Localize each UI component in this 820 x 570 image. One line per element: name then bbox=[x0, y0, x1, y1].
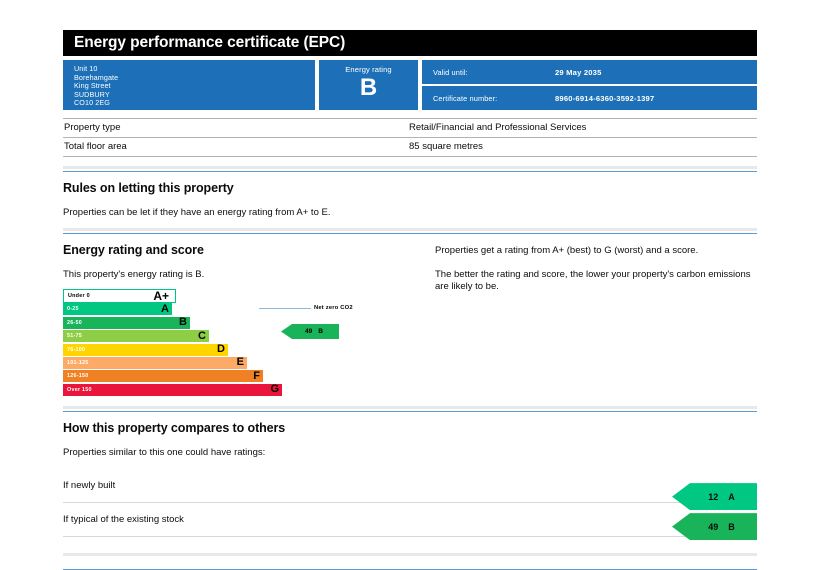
rating-band-e: 101-125 E bbox=[63, 357, 435, 369]
compare-rows: If newly built 12 A If typical of the ex… bbox=[63, 469, 757, 537]
floor-area-value: 85 square metres bbox=[409, 141, 757, 152]
compare-row-existing-stock: If typical of the existing stock 49 B bbox=[63, 503, 757, 537]
page-title: Energy performance certificate (EPC) bbox=[74, 35, 345, 51]
section-divider-grey-3 bbox=[63, 406, 757, 409]
rating-band-letter: B bbox=[179, 317, 187, 328]
letting-rules-text: Properties can be let if they have an en… bbox=[63, 206, 757, 219]
rating-explainer-2: The better the rating and score, the low… bbox=[435, 269, 757, 294]
table-row: Total floor area 85 square metres bbox=[63, 138, 757, 157]
property-type-value: Retail/Financial and Professional Servic… bbox=[409, 122, 757, 133]
rating-band-range: 76-100 bbox=[67, 347, 85, 353]
compare-row-label: If newly built bbox=[63, 480, 757, 491]
footer-divider-grey bbox=[63, 553, 757, 556]
property-address: Unit 10 Borehamgate King Street SUDBURY … bbox=[63, 60, 315, 110]
energy-rating-intro: This property's energy rating is B. bbox=[63, 268, 435, 281]
rating-band-aplus: Under 0 A+ bbox=[63, 290, 435, 302]
rating-band-letter: E bbox=[237, 357, 244, 368]
rating-band-letter: C bbox=[198, 331, 206, 342]
compare-score-band: A bbox=[728, 492, 735, 502]
net-zero-marker: Net zero CO2 bbox=[259, 305, 439, 311]
floor-area-label: Total floor area bbox=[64, 141, 409, 152]
section-divider-blue-3 bbox=[63, 411, 757, 412]
property-details-table: Property type Retail/Financial and Profe… bbox=[63, 118, 757, 157]
rating-band-c: 51-75 C bbox=[63, 330, 435, 342]
rating-band-letter: D bbox=[217, 344, 225, 355]
current-score-arrow: 49 B bbox=[281, 324, 339, 339]
valid-until-value: 29 May 2035 bbox=[555, 68, 602, 77]
valid-until-row: Valid until: 29 May 2035 bbox=[422, 60, 757, 84]
certificate-meta: Valid until: 29 May 2035 Certificate num… bbox=[422, 60, 757, 110]
letting-rules-heading: Rules on letting this property bbox=[63, 181, 757, 195]
address-line-4: SUDBURY bbox=[74, 91, 315, 100]
document-title-bar: Energy performance certificate (EPC) bbox=[63, 30, 757, 56]
summary-band: Unit 10 Borehamgate King Street SUDBURY … bbox=[63, 60, 757, 110]
address-line-3: King Street bbox=[74, 82, 315, 91]
rating-band-f: 126-150 F bbox=[63, 370, 435, 382]
energy-rating-badge-label: Energy rating bbox=[345, 65, 391, 74]
energy-rating-chart: Under 0 A+ 0-25 A 26-50 B bbox=[63, 290, 435, 396]
rating-band-letter: G bbox=[270, 384, 279, 395]
section-divider-blue bbox=[63, 171, 757, 172]
rating-band-b: 26-50 B bbox=[63, 317, 435, 329]
rating-band-range: 0-25 bbox=[67, 306, 79, 312]
energy-rating-right-column: Properties get a rating from A+ (best) t… bbox=[435, 234, 757, 397]
compare-heading: How this property compares to others bbox=[63, 421, 757, 435]
section-divider-grey bbox=[63, 166, 757, 169]
rating-band-range: 26-50 bbox=[67, 320, 82, 326]
energy-rating-badge-letter: B bbox=[360, 75, 377, 101]
section-divider-grey-2 bbox=[63, 228, 757, 231]
certificate-number-value: 8960-6914-6360-3592-1397 bbox=[555, 94, 654, 103]
energy-rating-section: Energy rating and score This property's … bbox=[63, 234, 757, 397]
energy-rating-badge: Energy rating B bbox=[319, 60, 418, 110]
rating-band-range: 126-150 bbox=[67, 373, 89, 379]
compare-row-newly-built: If newly built 12 A bbox=[63, 469, 757, 503]
compare-score-band: B bbox=[728, 522, 735, 532]
net-zero-leader-line bbox=[259, 308, 311, 309]
compare-row-label: If typical of the existing stock bbox=[63, 514, 757, 525]
address-postcode: CO10 2EG bbox=[74, 99, 315, 108]
rating-band-range: 51-75 bbox=[67, 333, 82, 339]
energy-rating-heading: Energy rating and score bbox=[63, 243, 435, 257]
rating-band-g: Over 150 G bbox=[63, 384, 435, 396]
property-type-label: Property type bbox=[64, 122, 409, 133]
rating-band-letter: A bbox=[161, 304, 169, 315]
current-score-value: 49 bbox=[305, 328, 312, 335]
rating-band-range: Over 150 bbox=[67, 387, 92, 393]
net-zero-label: Net zero CO2 bbox=[314, 305, 353, 311]
certificate-number-row: Certificate number: 8960-6914-6360-3592-… bbox=[422, 86, 757, 110]
compare-rating-arrow: 49 B bbox=[672, 513, 757, 540]
rating-band-d: 76-100 D bbox=[63, 344, 435, 356]
rating-band-range: Under 0 bbox=[68, 293, 90, 299]
current-score-band: B bbox=[318, 328, 323, 335]
epc-content: Energy performance certificate (EPC) Uni… bbox=[63, 30, 757, 570]
compare-intro: Properties similar to this one could hav… bbox=[63, 446, 757, 459]
epc-page: Energy performance certificate (EPC) Uni… bbox=[0, 0, 820, 547]
energy-rating-left-column: Energy rating and score This property's … bbox=[63, 234, 435, 397]
compare-score-value: 12 bbox=[708, 492, 718, 502]
rating-band-range: 101-125 bbox=[67, 360, 89, 366]
compare-score-value: 49 bbox=[708, 522, 718, 532]
valid-until-label: Valid until: bbox=[433, 68, 555, 77]
rating-explainer-1: Properties get a rating from A+ (best) t… bbox=[435, 245, 757, 258]
certificate-number-label: Certificate number: bbox=[433, 94, 555, 103]
rating-band-letter: A+ bbox=[153, 291, 169, 302]
rating-band-letter: F bbox=[253, 371, 260, 382]
table-row: Property type Retail/Financial and Profe… bbox=[63, 118, 757, 138]
